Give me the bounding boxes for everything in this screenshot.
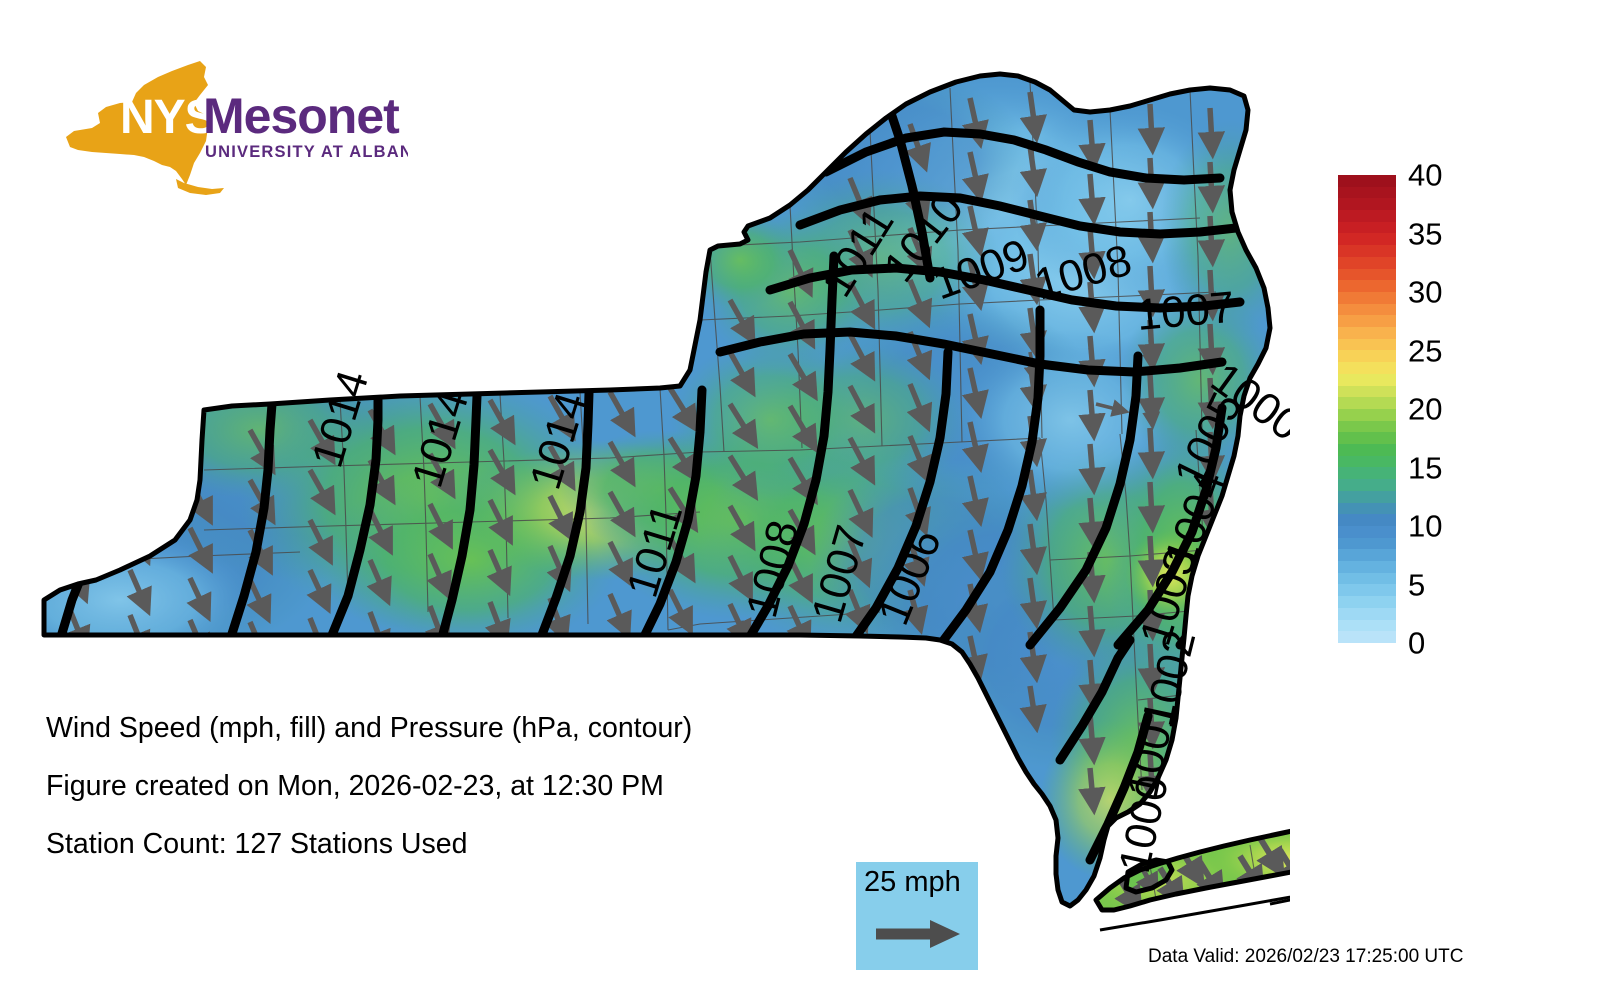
colorbar-band — [1338, 479, 1396, 491]
colorbar-band — [1338, 491, 1396, 503]
contour-label: 1007 — [1135, 283, 1237, 340]
colorbar-band — [1338, 620, 1396, 632]
caption-station-count: Station Count: 127 Stations Used — [46, 828, 846, 861]
wind-speed-colorbar: 4035302520151050 — [1338, 175, 1578, 655]
right-arrow-icon — [874, 914, 964, 954]
colorbar-band — [1338, 269, 1396, 281]
colorbar-band — [1338, 397, 1396, 409]
colorbar-band — [1338, 514, 1396, 526]
colorbar-band — [1338, 292, 1396, 304]
caption-created: Figure created on Mon, 2026-02-23, at 12… — [46, 770, 846, 803]
colorbar-tick-label: 25 — [1408, 335, 1442, 366]
figure-caption: Wind Speed (mph, fill) and Pressure (hPa… — [46, 712, 846, 886]
wind-vector-key: 25 mph — [856, 862, 978, 970]
colorbar-band — [1338, 573, 1396, 585]
colorbar-band — [1338, 198, 1396, 210]
colorbar-band — [1338, 631, 1396, 643]
colorbar-tick-label: 5 — [1408, 569, 1425, 600]
colorbar-tick-label: 10 — [1408, 511, 1442, 542]
colorbar-band — [1338, 421, 1396, 433]
colorbar-tick-label: 35 — [1408, 218, 1442, 249]
colorbar-band — [1338, 608, 1396, 620]
colorbar-band — [1338, 596, 1396, 608]
data-valid-timestamp: Data Valid: 2026/02/23 17:25:00 UTC — [1148, 946, 1463, 968]
colorbar-tick-label: 40 — [1408, 160, 1442, 191]
colorbar-band — [1338, 304, 1396, 316]
colorbar-tick-label: 0 — [1408, 628, 1425, 659]
colorbar-band — [1338, 315, 1396, 327]
colorbar-band — [1338, 561, 1396, 573]
colorbar-band — [1338, 538, 1396, 550]
colorbar-band — [1338, 503, 1396, 515]
colorbar-tick-label: 20 — [1408, 394, 1442, 425]
vector-key-label: 25 mph — [864, 866, 961, 899]
colorbar-band — [1338, 222, 1396, 234]
colorbar-band — [1338, 549, 1396, 561]
caption-title: Wind Speed (mph, fill) and Pressure (hPa… — [46, 712, 846, 745]
colorbar-tick-labels: 4035302520151050 — [1408, 175, 1498, 643]
colorbar-tick-label: 15 — [1408, 452, 1442, 483]
colorbar-band — [1338, 339, 1396, 351]
colorbar-band — [1338, 584, 1396, 596]
colorbar-band — [1338, 350, 1396, 362]
weather-map-figure: NYS Mesonet UNIVERSITY AT ALBANY — [0, 0, 1600, 1000]
colorbar-band — [1338, 327, 1396, 339]
colorbar-bands — [1338, 175, 1396, 643]
colorbar-band — [1338, 233, 1396, 245]
colorbar-band — [1338, 362, 1396, 374]
colorbar-band — [1338, 386, 1396, 398]
colorbar-band — [1338, 175, 1396, 187]
colorbar-band — [1338, 280, 1396, 292]
colorbar-tick-label: 30 — [1408, 277, 1442, 308]
colorbar-band — [1338, 187, 1396, 199]
colorbar-band — [1338, 257, 1396, 269]
colorbar-band — [1338, 467, 1396, 479]
colorbar-band — [1338, 444, 1396, 456]
colorbar-band — [1338, 526, 1396, 538]
colorbar-band — [1338, 456, 1396, 468]
colorbar-band — [1338, 374, 1396, 386]
colorbar-band — [1338, 210, 1396, 222]
colorbar-band — [1338, 245, 1396, 257]
colorbar-band — [1338, 409, 1396, 421]
colorbar-band — [1338, 432, 1396, 444]
